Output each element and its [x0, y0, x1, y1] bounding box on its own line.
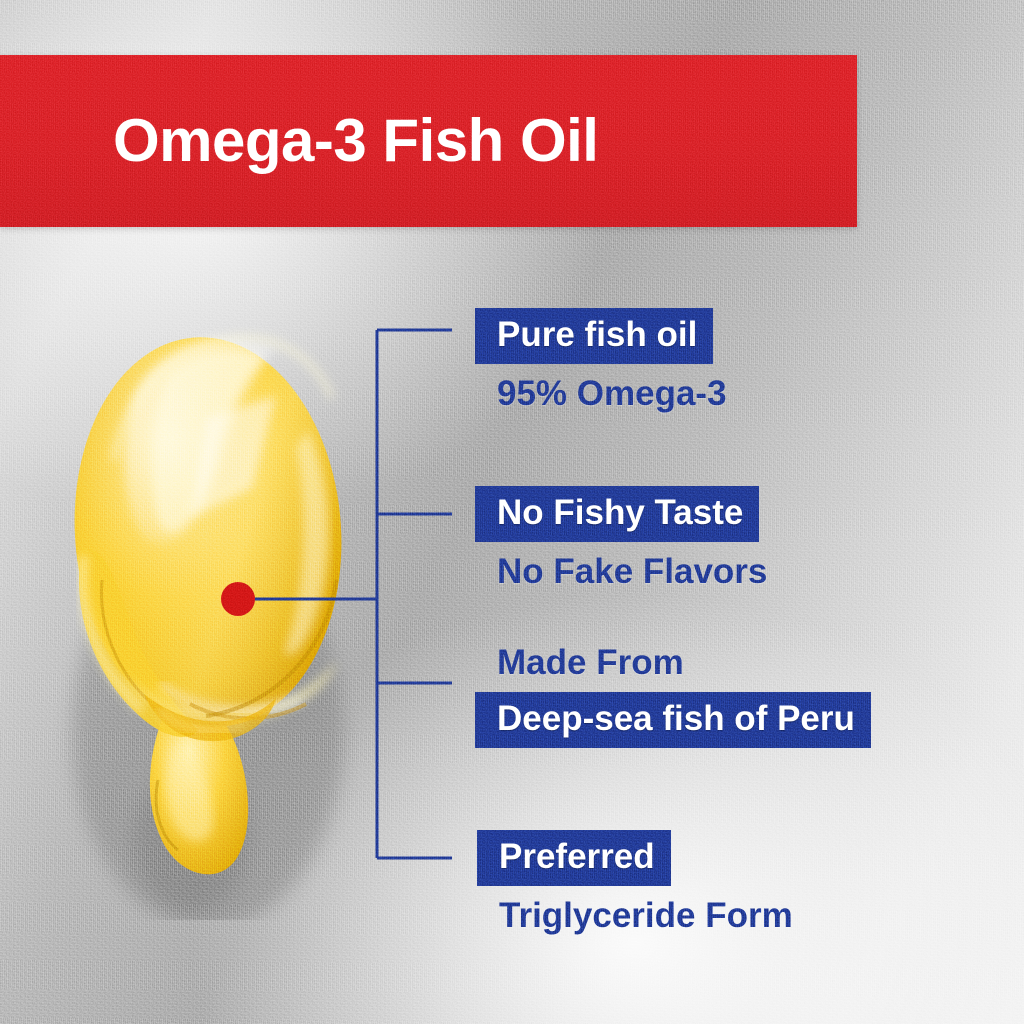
callout-3-subtext: Made From	[475, 645, 871, 680]
header-banner: Omega-3 Fish Oil	[0, 55, 857, 227]
page-title: Omega-3 Fish Oil	[113, 111, 598, 171]
callout-1-subtext: 95% Omega-3	[475, 376, 727, 411]
capsule-hotspot-dot	[221, 582, 255, 616]
callout-2-highlight: No Fishy Taste	[475, 486, 759, 542]
callout-1-highlight: Pure fish oil	[475, 308, 713, 364]
infographic-canvas: Omega-3 Fish Oil Pure fish oil 95% Omega…	[0, 0, 1024, 1024]
callout-4-highlight: Preferred	[477, 830, 671, 886]
callout-4-subtext: Triglyceride Form	[477, 898, 793, 933]
callout-no-fishy-taste: No Fishy Taste No Fake Flavors	[475, 486, 767, 589]
callout-pure-fish-oil: Pure fish oil 95% Omega-3	[475, 308, 727, 411]
callout-preferred: Preferred Triglyceride Form	[477, 830, 793, 933]
callout-made-from: Made From Deep-sea fish of Peru	[475, 645, 871, 748]
callout-2-subtext: No Fake Flavors	[475, 554, 767, 589]
callout-3-highlight: Deep-sea fish of Peru	[475, 692, 871, 748]
